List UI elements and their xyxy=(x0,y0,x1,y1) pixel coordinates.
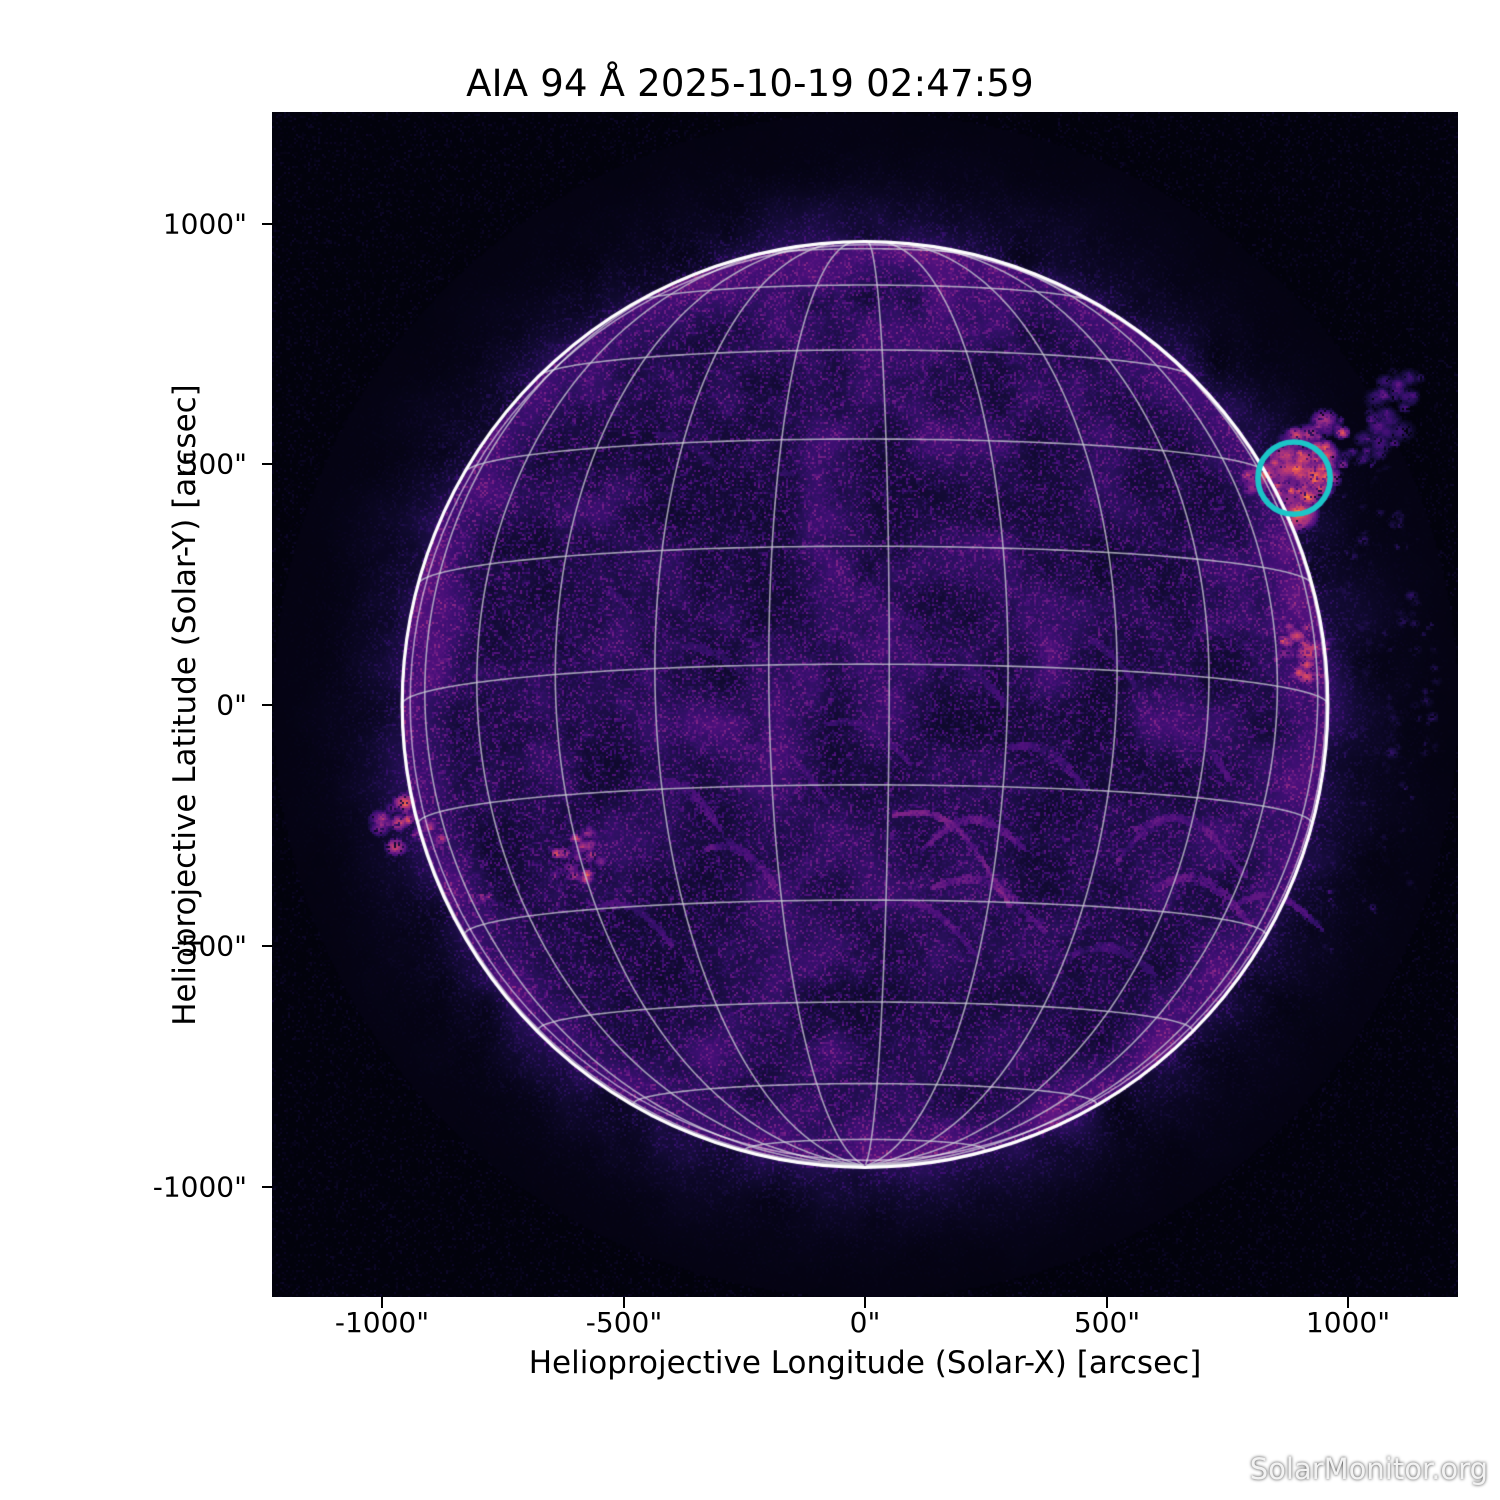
ytick-mark-1000 xyxy=(262,223,273,225)
ytick-mark-neg1000 xyxy=(262,1186,273,1188)
watermark-label: SolarMonitor.org xyxy=(1250,1452,1488,1486)
solar-image-plot[interactable] xyxy=(272,112,1458,1297)
y-axis-label: Helioprojective Latitude (Solar-Y) [arcs… xyxy=(165,112,205,1298)
solar-disk-canvas xyxy=(272,112,1458,1297)
xtick-label-500: 500" xyxy=(1074,1306,1140,1339)
ytick-mark-neg500 xyxy=(262,945,273,947)
ytick-mark-0 xyxy=(262,704,273,706)
ytick-label-0: 0" xyxy=(216,689,247,722)
xtick-label-0: 0" xyxy=(850,1306,881,1339)
x-axis-label: Helioprojective Longitude (Solar-X) [arc… xyxy=(272,1345,1458,1381)
ytick-mark-500 xyxy=(262,463,273,465)
solar-image-figure: AIA 94 Å 2025-10-19 02:47:59 1000" 500" … xyxy=(0,0,1500,1500)
xtick-label-1000: 1000" xyxy=(1306,1306,1390,1339)
xtick-label-neg1000: -1000" xyxy=(335,1306,429,1339)
xtick-label-neg500: -500" xyxy=(586,1306,662,1339)
page-title: AIA 94 Å 2025-10-19 02:47:59 xyxy=(0,62,1500,105)
